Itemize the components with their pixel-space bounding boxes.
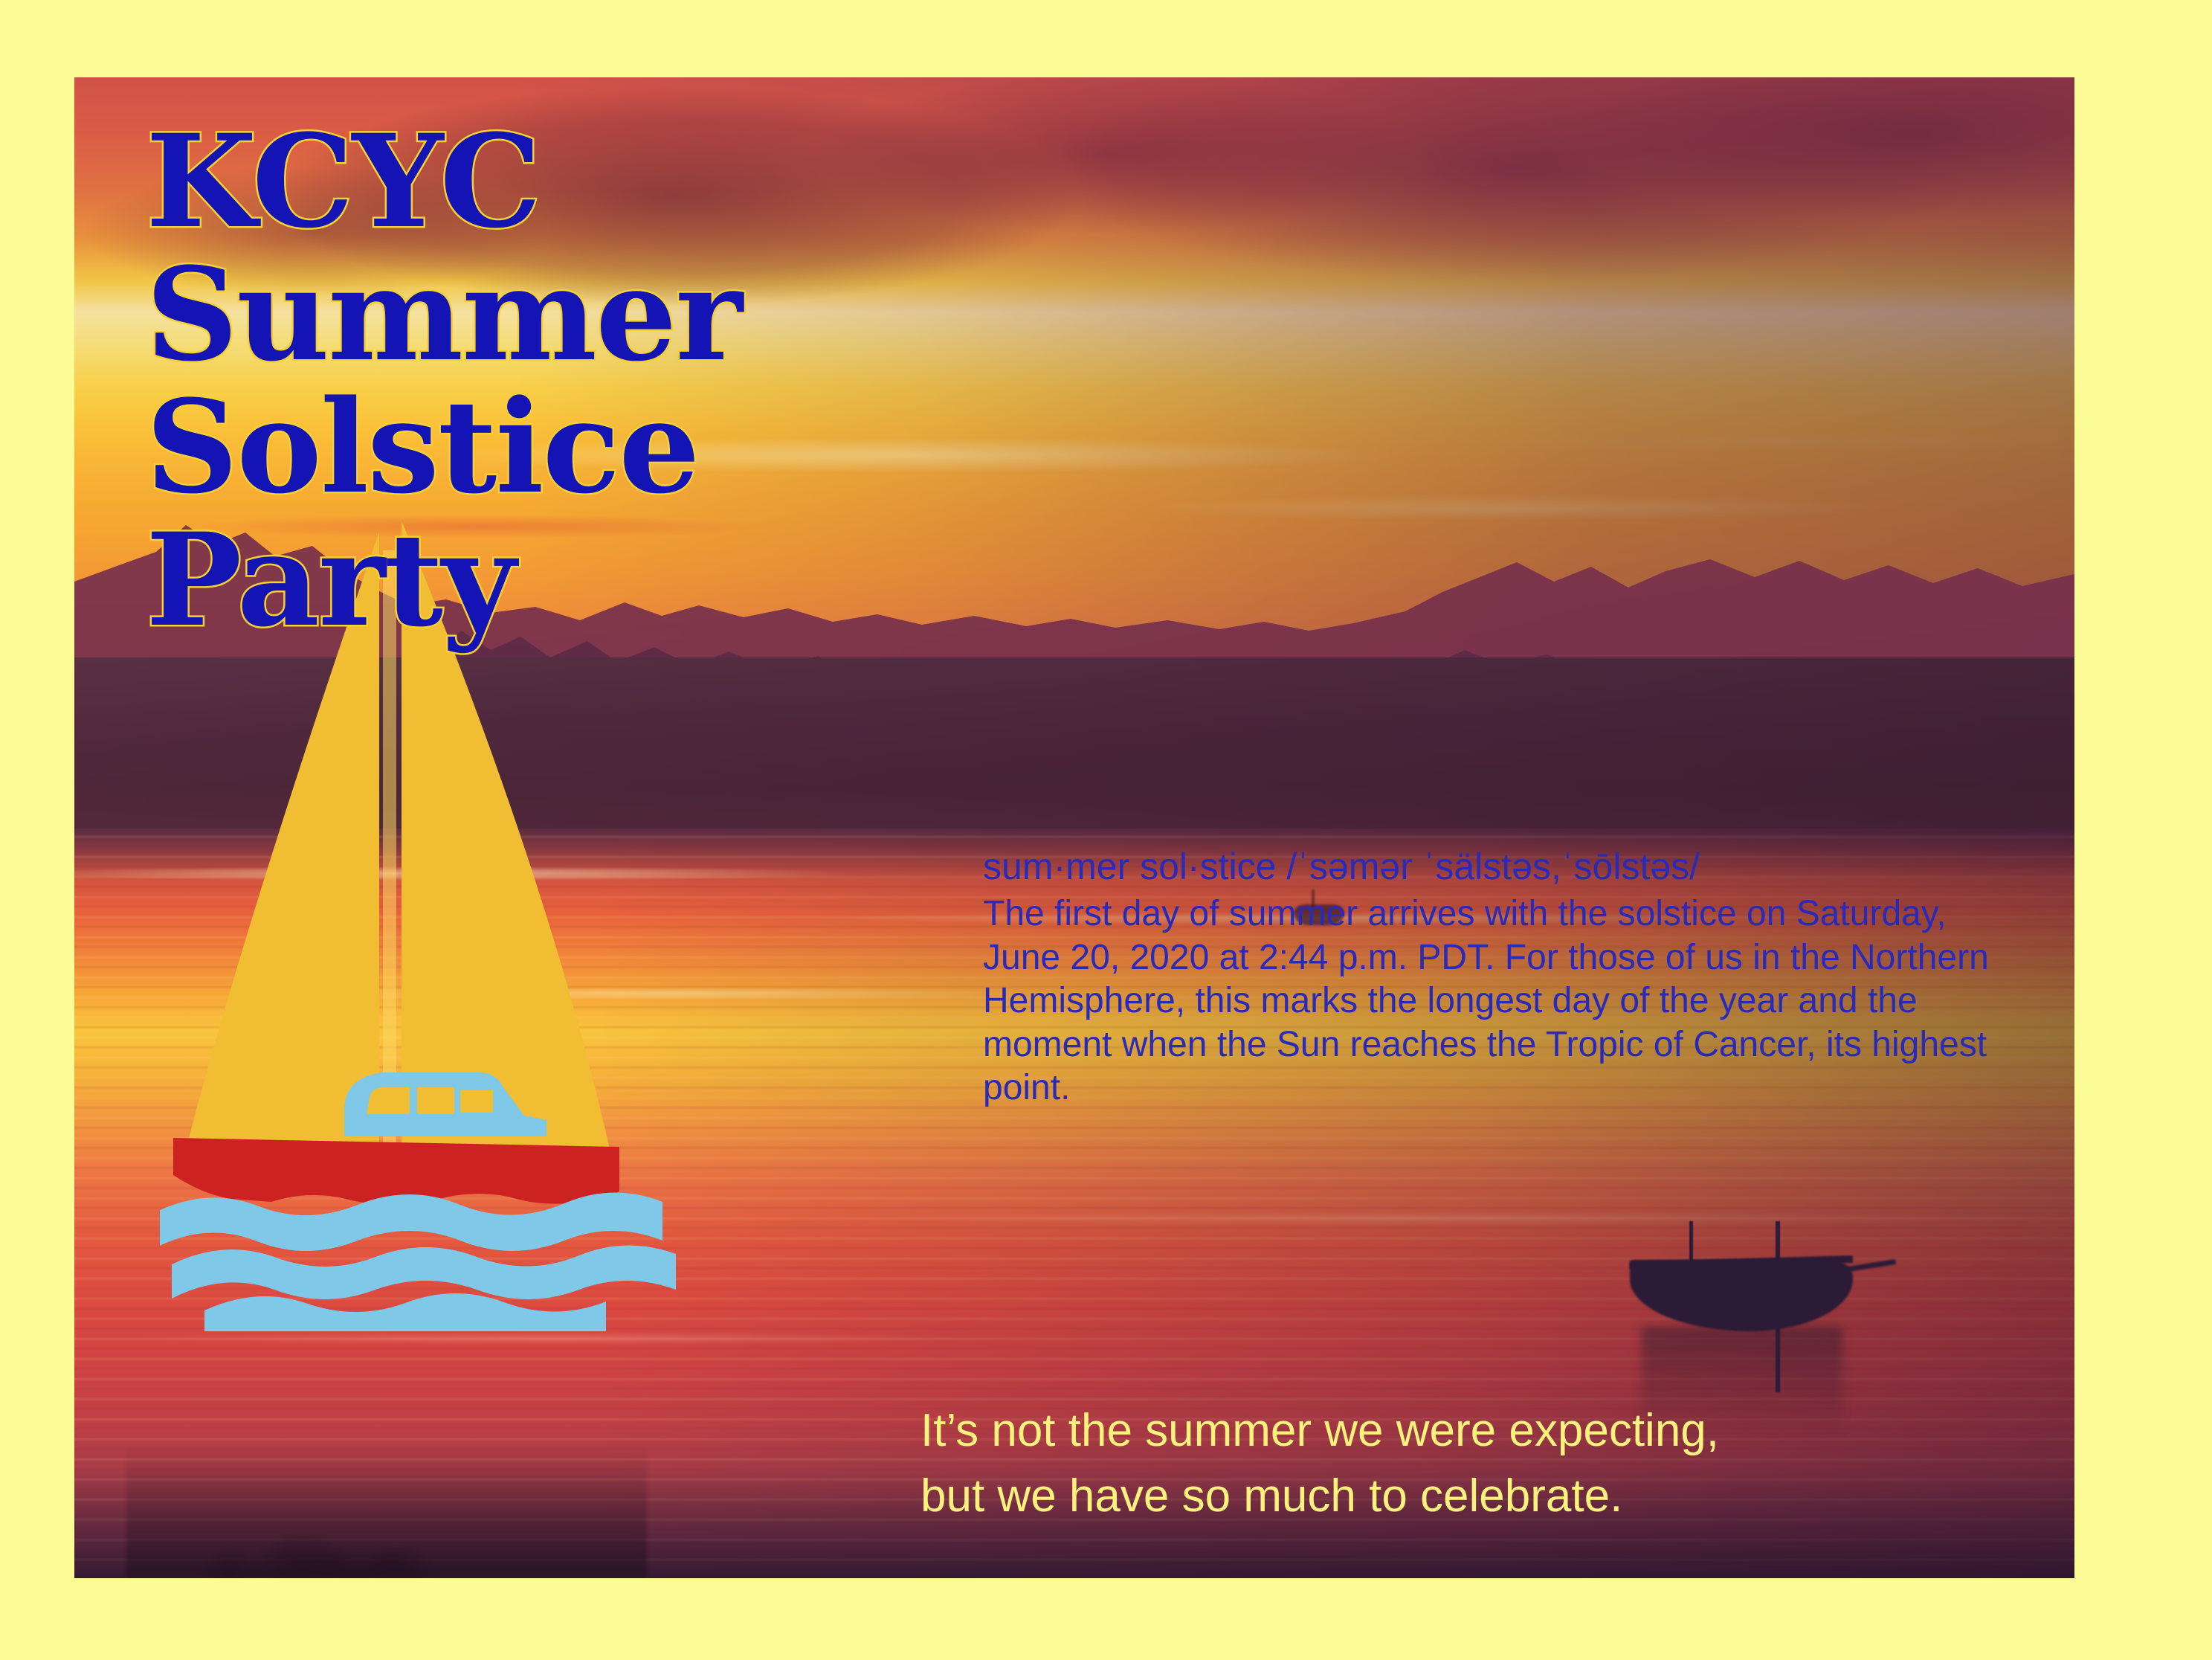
closing-line-2: but we have so much to celebrate. [920, 1464, 2080, 1529]
cabin-window-aft [460, 1090, 493, 1113]
closing-line-1: It’s not the summer we were expecting, [920, 1398, 2080, 1464]
cabin-window-right [417, 1087, 454, 1114]
wave-1 [160, 1192, 662, 1251]
closing-message: It’s not the summer we were expecting, b… [920, 1398, 2080, 1529]
wave-2 [172, 1245, 676, 1299]
hull [173, 1138, 619, 1205]
title-line-kcyc: KCYC [146, 119, 1023, 245]
poster-canvas: KCYC Summer Solstice Party sum·mer sol·s… [0, 0, 2212, 1660]
title-line-party: Party [146, 518, 1023, 643]
cabin-window-left [367, 1087, 410, 1114]
title-line-summer: Summer [146, 252, 1023, 378]
definition-body: The first day of summer arrives with the… [983, 892, 2016, 1110]
sailboat-hull [1630, 1260, 1853, 1331]
poster-title: KCYC Summer Solstice Party [146, 119, 1023, 643]
solstice-definition: sum·mer sol·stice /ˈsəmər ˈsälstəs,ˈsōls… [983, 844, 2016, 1110]
wave-3 [204, 1293, 606, 1331]
title-line-solstice: Solstice [146, 385, 1023, 510]
definition-headword: sum·mer sol·stice /ˈsəmər ˈsälstəs,ˈsōls… [983, 844, 2016, 889]
